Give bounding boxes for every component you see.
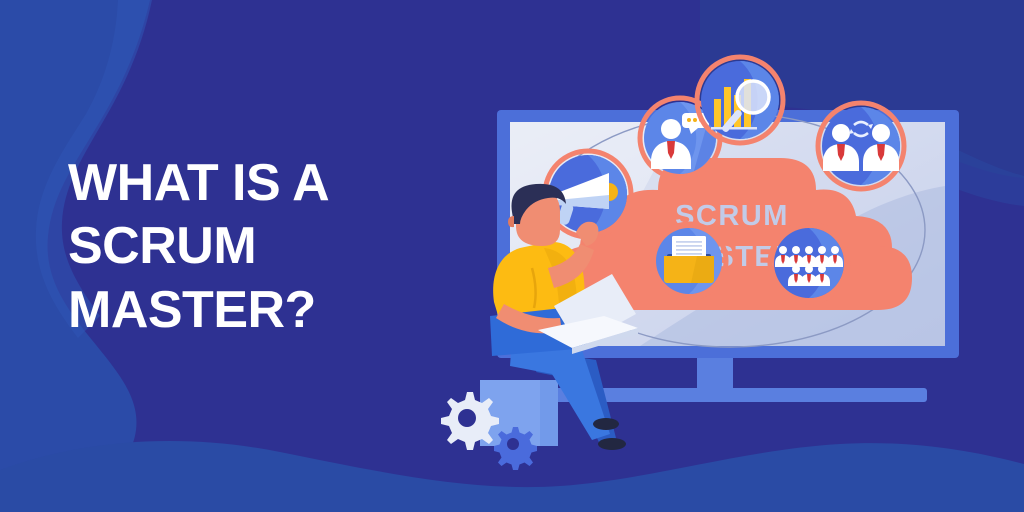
chart-axis — [711, 127, 757, 130]
person-head — [661, 119, 681, 139]
illustration: SCRUM MASTER — [440, 0, 1024, 512]
headline-line-2: SCRUM — [68, 215, 488, 278]
icon-two-people-exchange[interactable] — [818, 103, 904, 189]
icon-team-group[interactable] — [770, 224, 848, 302]
cloud-label-line-1: SCRUM — [675, 200, 789, 232]
page-title: WHAT IS A SCRUM MASTER? — [68, 152, 488, 342]
shoe-front — [593, 418, 619, 430]
headline-line-1: WHAT IS A — [68, 152, 488, 215]
gear-large — [441, 392, 499, 450]
person-right-head — [872, 124, 890, 142]
seat-cube-shade — [540, 380, 558, 446]
banner-root: WHAT IS A SCRUM MASTER? — [0, 0, 1024, 512]
icon-bar-chart-magnifier[interactable] — [697, 57, 783, 143]
icon-folder-documents[interactable] — [652, 224, 726, 298]
person-left-head — [832, 124, 850, 142]
headline-line-3: MASTER? — [68, 279, 488, 342]
gear-small — [494, 427, 537, 470]
shoe-back — [598, 438, 626, 450]
